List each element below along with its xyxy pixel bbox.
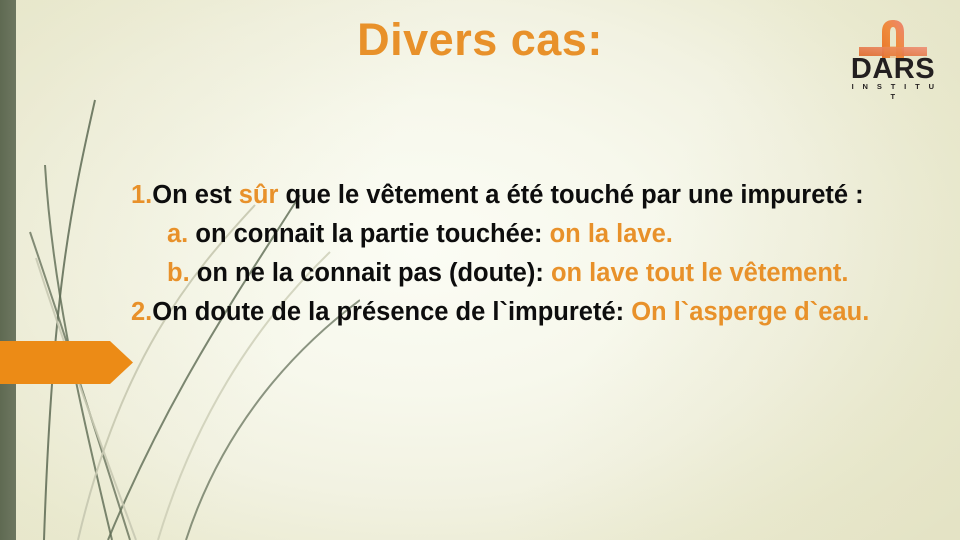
dars-arch-mark-icon: [856, 18, 930, 58]
list-item-text: sûr: [239, 181, 279, 209]
list-item-text: on lave tout le vêtement.: [551, 259, 849, 287]
list-item-marker: 1.: [131, 181, 152, 209]
list-item-text: on la lave.: [550, 220, 673, 248]
list-item-text: On l`asperge d`eau.: [631, 298, 869, 326]
list-item-marker: b.: [167, 259, 190, 287]
list-item-text: On doute de la présence de l`impureté:: [152, 298, 631, 326]
list-item: 1.On est sûr que le vêtement a été touch…: [131, 176, 931, 215]
list-item: 2.On doute de la présence de l`impureté:…: [131, 293, 931, 332]
list-item-marker: a.: [167, 220, 188, 248]
list-item: b. on ne la connait pas (doute): on lave…: [131, 254, 931, 293]
list-item-marker: 2.: [131, 298, 152, 326]
logo-subtitle: I N S T I T U T: [847, 82, 942, 102]
orange-arrow-banner: [0, 341, 133, 384]
list-item-text: que le vêtement a été touché par une imp…: [278, 181, 863, 209]
slide-canvas: Divers cas: DARS I N S T I T U T 1.On es…: [0, 0, 960, 540]
page-title: Divers cas:: [0, 14, 960, 66]
dars-institut-logo: DARS I N S T I T U T: [844, 18, 942, 100]
list-item: a. on connait la partie touchée: on la l…: [131, 215, 931, 254]
slide-body: 1.On est sûr que le vêtement a été touch…: [131, 176, 931, 332]
list-item-text: On est: [152, 181, 238, 209]
list-item-text: on ne la connait pas (doute):: [190, 259, 551, 287]
logo-wordmark: DARS: [844, 56, 942, 82]
list-item-text: on connait la partie touchée:: [188, 220, 549, 248]
